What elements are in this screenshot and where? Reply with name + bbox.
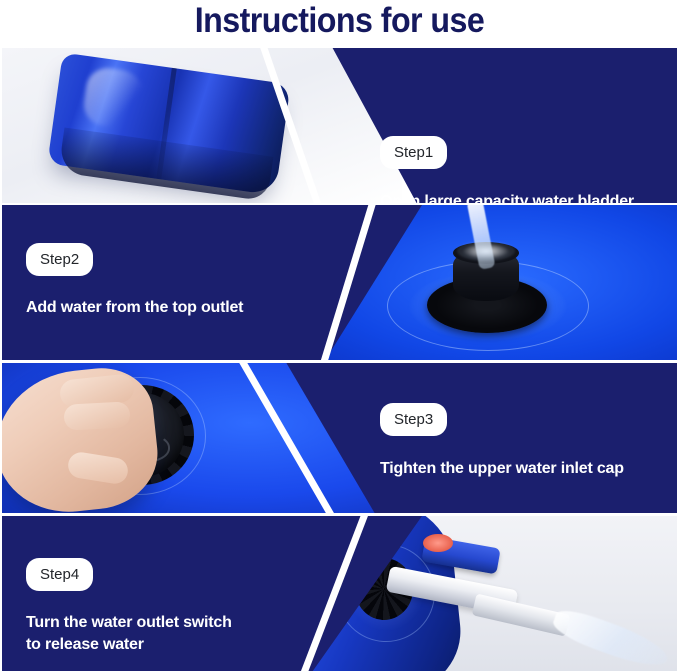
step1-photo <box>2 48 402 203</box>
lever-knob <box>423 534 453 552</box>
step1-badge: Step1 <box>380 136 447 169</box>
instructions-infographic: Instructions for use Step1 Open large ca… <box>0 0 679 671</box>
step-panel-4: Step4 Turn the water outlet switch to re… <box>2 516 677 671</box>
step4-badge: Step4 <box>26 558 93 591</box>
step4-caption: Turn the water outlet switch to release … <box>26 612 232 655</box>
folded-bladder-graphic <box>47 53 290 196</box>
step3-caption: Tighten the upper water inlet cap <box>380 458 624 480</box>
finger-2 <box>63 401 130 430</box>
bladder-fold-shadow <box>58 127 274 201</box>
page-title: Instructions for use <box>27 0 652 44</box>
step-panel-1: Step1 Open large capacity water bladder <box>2 48 677 203</box>
water-outflow <box>549 604 672 671</box>
step3-badge: Step3 <box>380 403 447 436</box>
step-panel-2: Step2 Add water from the top outlet <box>2 205 677 360</box>
step2-caption: Add water from the top outlet <box>26 297 243 319</box>
step-panel-3: Step3 Tighten the upper water inlet cap <box>2 363 677 513</box>
step2-badge: Step2 <box>26 243 93 276</box>
step1-caption: Open large capacity water bladder <box>380 191 634 203</box>
